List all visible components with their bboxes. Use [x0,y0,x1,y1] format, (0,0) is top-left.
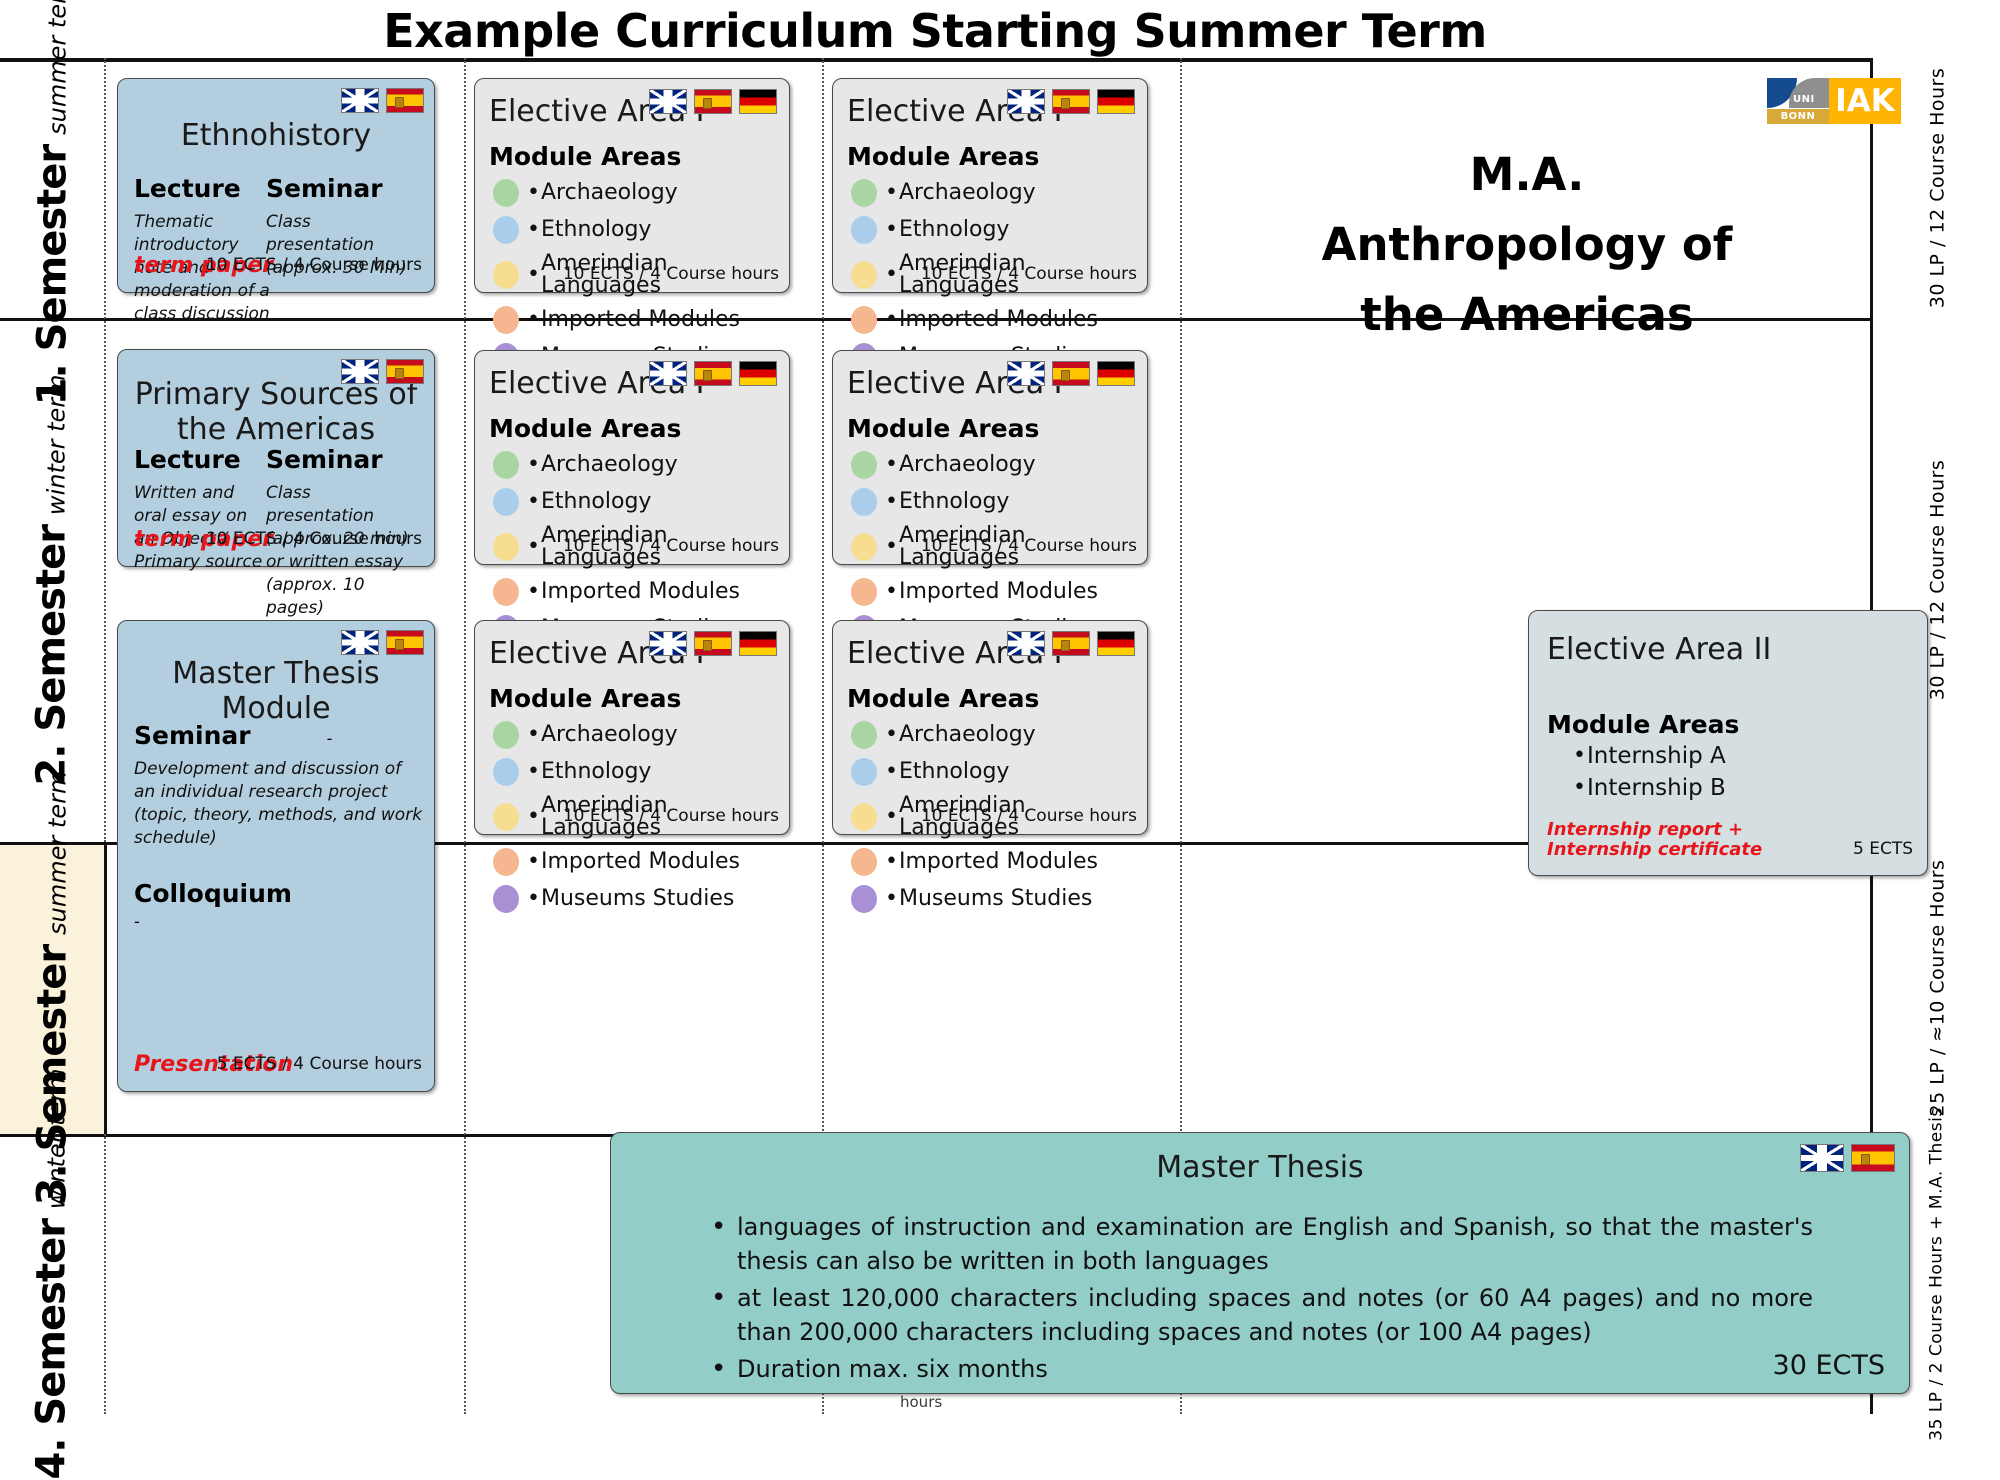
list-item: •Imported Modules [851,306,1147,334]
flag-spain-icon [386,630,424,655]
card-elective-area-i[interactable]: Elective Area I Module Areas •Archaeolog… [474,350,790,565]
page-title: Example Curriculum Starting Summer Term [0,4,1870,58]
color-dot-archaeology [851,179,877,207]
color-dot-ethnology [493,488,519,516]
language-flags [649,89,777,114]
list-item: •Ethnology [493,216,789,244]
semester-term: winter term [43,1068,71,1209]
lecture-heading: Lecture [134,174,274,203]
list-item: •Museums Studies [493,885,789,913]
list-item: •Ethnology [851,488,1147,516]
card-master-thesis-module[interactable]: Master Thesis Module Seminar - Developme… [117,620,435,1092]
list-item: •Ethnology [851,216,1147,244]
seminar-text: Class presentation (approx. 20 min) or w… [266,482,418,620]
color-dot-amerindian [493,261,519,289]
credits-label-3: 25 LP / ≈10 Course Hours [1874,842,2000,1134]
module-areas-heading: Module Areas [847,414,1147,443]
color-dot-imported [851,578,877,606]
card-title: Primary Sources of the Americas [132,378,420,447]
language-flags [649,631,777,656]
semester-number: 4. Semester [29,1219,75,1479]
card-title: Master Thesis Module [118,657,434,726]
language-flags [649,361,777,386]
flag-germany-icon [739,361,777,386]
list-item: •Archaeology [851,721,1147,749]
color-dot-ethnology [493,216,519,244]
list-item: •Archaeology [851,179,1147,207]
ects-label: 10 ECTS / 4 Course hours [206,255,422,275]
uni-bonn-logo-icon: UNI BONN [1767,78,1829,124]
color-dot-ethnology [493,758,519,786]
seminar-heading: Seminar [266,174,416,203]
flag-uk-icon [341,88,379,113]
iak-logo-icon: IAK [1829,78,1901,124]
ects-label: 10 ECTS / 4 Course hours [921,806,1137,826]
lecture-heading: Lecture [134,445,270,474]
flag-spain-icon [1052,361,1090,386]
language-flags [341,359,424,384]
card-elective-area-i[interactable]: Elective Area I Module Areas •Archaeolog… [832,78,1148,293]
color-dot-imported [493,578,519,606]
flag-spain-icon [694,361,732,386]
color-dot-ethnology [851,758,877,786]
module-areas-heading: Module Areas [489,684,789,713]
curriculum-diagram: Example Curriculum Starting Summer Term … [0,0,2000,1414]
flag-uk-icon [1800,1144,1844,1172]
color-dot-amerindian [493,533,519,561]
language-flags [1007,631,1135,656]
semester-term: summer term [43,771,71,935]
flag-uk-icon [1007,631,1045,656]
list-item: •Internship A [1573,745,1927,768]
list-item: •Ethnology [493,758,789,786]
language-flags [1007,361,1135,386]
card-title: Ethnohistory [118,119,434,154]
card-title: Master Thesis [611,1151,1909,1186]
list-item: •Archaeology [493,721,789,749]
card-elective-area-ii[interactable]: Elective Area II Module Areas •Internshi… [1528,610,1928,876]
university-logo: UNI BONN IAK [1767,78,1901,124]
color-dot-ethnology [851,488,877,516]
seminar-heading: Seminar [266,445,418,474]
list-item: •Archaeology [851,451,1147,479]
semester-label-2: 2. Semester winter term [0,318,104,842]
language-flags [1800,1144,1895,1172]
ects-label: 5 ECTS [1853,839,1913,859]
flag-germany-icon [739,89,777,114]
flag-uk-icon [649,361,687,386]
color-dot-imported [851,306,877,334]
list-item: •Imported Modules [851,578,1147,606]
module-areas-heading: Module Areas [489,142,789,171]
card-ethnohistory[interactable]: Ethnohistory Lecture Thematic introducto… [117,78,435,293]
ects-label: 10 ECTS / 4 Course hours [921,536,1137,556]
list-item: at least 120,000 characters including sp… [707,1281,1813,1349]
flag-uk-icon [341,630,379,655]
list-item: •Imported Modules [493,848,789,876]
semester-term: summer term [43,0,71,135]
list-item: Duration max. six months [707,1352,1813,1386]
color-dot-imported [493,306,519,334]
color-dot-ethnology [851,216,877,244]
flag-uk-icon [1007,361,1045,386]
list-item: •Ethnology [851,758,1147,786]
flag-spain-icon [386,88,424,113]
ects-label: 30 ECTS [1773,1350,1885,1381]
flag-spain-icon [694,89,732,114]
flag-uk-icon [1007,89,1045,114]
list-item: •Internship B [1573,777,1927,800]
card-elective-area-i[interactable]: Elective Area I Module Areas •Archaeolog… [832,350,1148,565]
module-areas-heading: Module Areas [1547,710,1927,739]
seminar-dash: - [327,729,333,748]
flag-uk-icon [649,89,687,114]
list-item: •Archaeology [493,451,789,479]
ects-label: 5 ECTS / 4 Course hours [217,1054,422,1074]
colloquium-dash: - [134,912,424,931]
color-dot-archaeology [851,451,877,479]
flag-uk-icon [341,359,379,384]
flag-uk-icon [649,631,687,656]
assessment-label: Internship report + Internship certifica… [1547,820,1807,861]
language-flags [1007,89,1135,114]
module-areas-heading: Module Areas [489,414,789,443]
semester-number: 2. Semester [29,525,75,785]
ects-label: 10 ECTS / 4 Course hours [206,529,422,549]
internship-list: •Internship A •Internship B [1573,745,1927,800]
color-dot-archaeology [851,721,877,749]
card-primary-sources[interactable]: Primary Sources of the Americas Lecture … [117,349,435,567]
colloquium-heading: Colloquium [134,879,424,908]
color-dot-museums [493,885,519,913]
language-flags [341,630,424,655]
list-item: •Imported Modules [493,306,789,334]
list-item: •Imported Modules [851,848,1147,876]
card-master-thesis[interactable]: Master Thesis languages of instruction a… [610,1132,1910,1394]
seminar-heading: Seminar [134,721,251,750]
master-thesis-bullets: languages of instruction and examination… [707,1210,1813,1386]
flag-spain-icon [1851,1144,1895,1172]
color-dot-museums [851,885,877,913]
card-elective-area-i[interactable]: Elective Area I Module Areas •Archaeolog… [474,620,790,835]
flag-spain-icon [694,631,732,656]
degree-title: M.A. Anthropology of the Americas [1190,140,1864,349]
card-elective-area-i[interactable]: Elective Area I Module Areas •Archaeolog… [474,78,790,293]
color-dot-archaeology [493,721,519,749]
semester-label-4: 4. Semester winter term [0,1134,104,1414]
ghost-hours-text: hours [900,1393,942,1411]
ects-label: 10 ECTS / 4 Course hours [563,264,779,284]
col-divider-0b [104,1134,106,1414]
flag-germany-icon [739,631,777,656]
ects-label: 10 ECTS / 4 Course hours [921,264,1137,284]
list-item: •Imported Modules [493,578,789,606]
card-elective-area-i[interactable]: Elective Area I Module Areas •Archaeolog… [832,620,1148,835]
flag-spain-icon [1052,89,1090,114]
flag-germany-icon [1097,89,1135,114]
list-item: •Museums Studies [851,885,1147,913]
flag-germany-icon [1097,631,1135,656]
ects-label: 10 ECTS / 4 Course hours [563,806,779,826]
module-areas-heading: Module Areas [847,684,1147,713]
card-title: Elective Area II [1547,633,1927,668]
color-dot-imported [493,848,519,876]
color-dot-amerindian [851,533,877,561]
semester-label-1: 1. Semester summer term [0,58,104,318]
flag-spain-icon [1052,631,1090,656]
flag-spain-icon [386,359,424,384]
list-item: •Archaeology [493,179,789,207]
flag-germany-icon [1097,361,1135,386]
color-dot-amerindian [493,803,519,831]
col-divider-0 [104,58,106,842]
color-dot-imported [851,848,877,876]
semester-3-rail-edge [104,842,107,1134]
seminar-text: Development and discussion of an individ… [134,758,424,850]
color-dot-amerindian [851,803,877,831]
language-flags [341,88,424,113]
color-dot-archaeology [493,179,519,207]
ects-label: 10 ECTS / 4 Course hours [563,536,779,556]
list-item: languages of instruction and examination… [707,1210,1813,1278]
color-dot-archaeology [493,451,519,479]
color-dot-amerindian [851,261,877,289]
module-areas-heading: Module Areas [847,142,1147,171]
semester-term: winter term [43,374,71,515]
list-item: •Ethnology [493,488,789,516]
col-divider-1 [464,58,466,1414]
